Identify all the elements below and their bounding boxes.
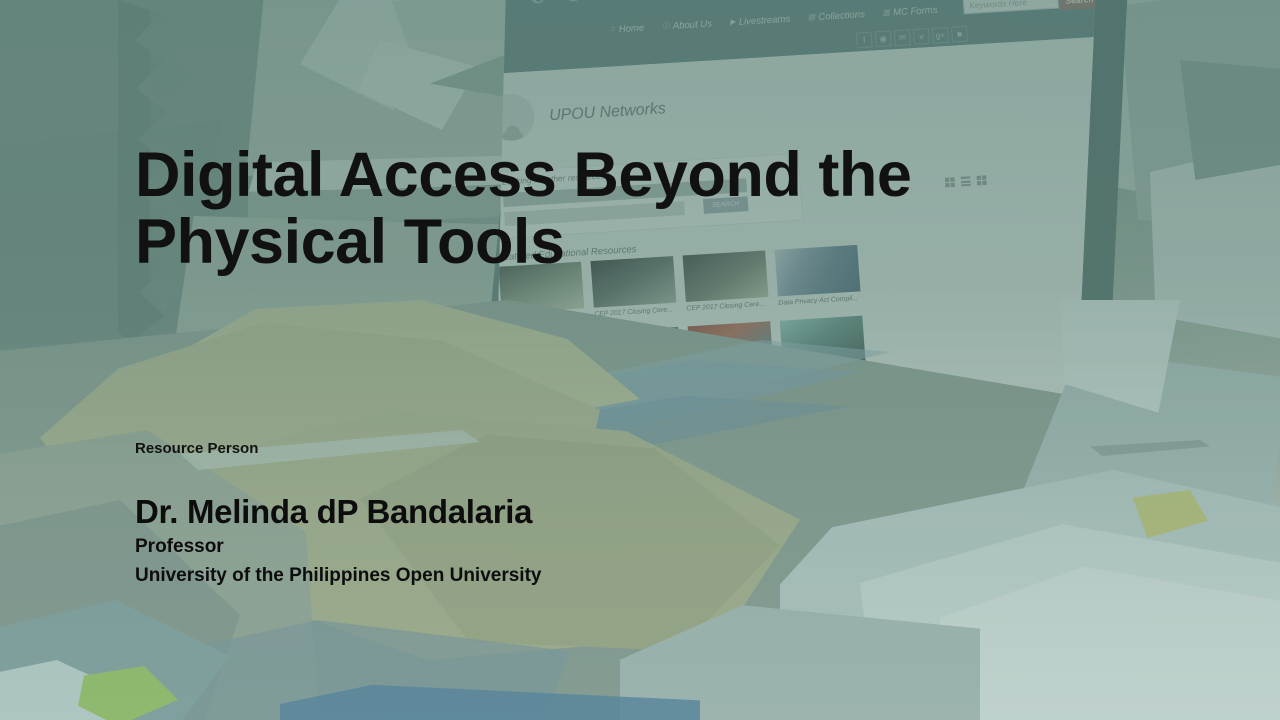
speaker-position: Professor [135, 535, 541, 559]
speaker-name: Dr. Melinda dP Bandalaria [135, 495, 541, 530]
speaker-block: Resource Person Dr. Melinda dP Bandalari… [135, 440, 541, 588]
presentation-slide: U O ⌂ Home ⓘ About Us ▶ Livestreams [0, 0, 1280, 720]
photo-color-wash-flat [0, 0, 1280, 720]
background-photo: U O ⌂ Home ⓘ About Us ▶ Livestreams [0, 0, 1280, 720]
slide-title-line-2: Physical Tools [135, 209, 1055, 276]
slide-title: Digital Access Beyond the Physical Tools [135, 142, 1055, 276]
slide-title-line-1: Digital Access Beyond the [135, 142, 1055, 209]
speaker-affiliation: University of the Philippines Open Unive… [135, 564, 541, 588]
role-label: Resource Person [135, 440, 541, 457]
